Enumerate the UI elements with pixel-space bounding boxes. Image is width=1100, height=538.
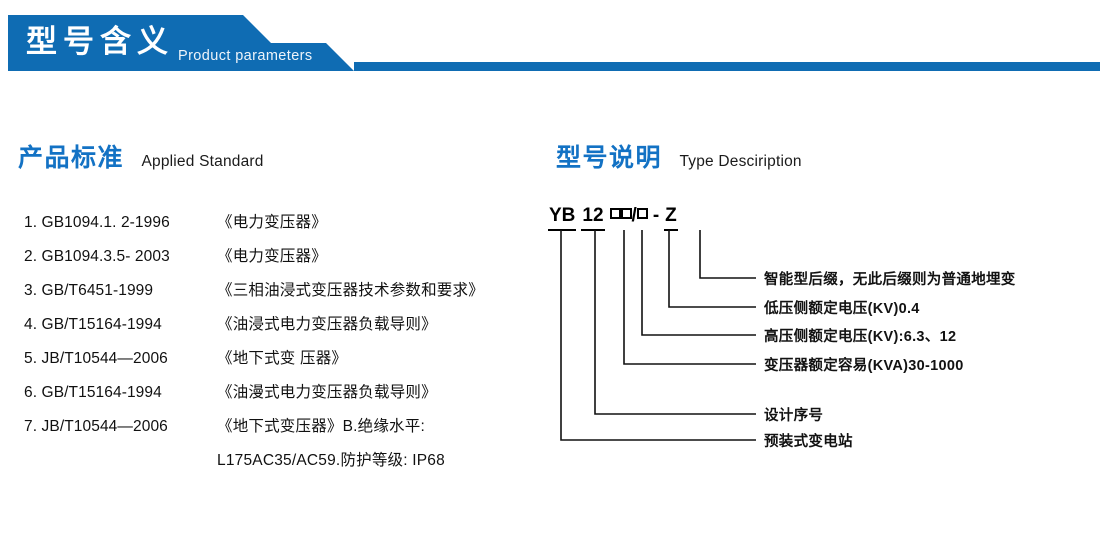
standard-title: 《地下式变压器》B.绝缘水平: xyxy=(217,410,425,444)
section-heading-standard-en: Applied Standard xyxy=(141,153,263,171)
standard-item: 3. GB/T6451-1999《三相油浸式变压器技术参数和要求》 xyxy=(24,274,544,308)
standard-item: 7. JB/T10544—2006《地下式变压器》B.绝缘水平: xyxy=(24,410,544,444)
section-heading-standard-cn: 产品标准 xyxy=(18,138,124,174)
applied-standards-list: 1. GB1094.1. 2-1996《电力变压器》 2. GB1094.3.5… xyxy=(24,206,544,478)
type-code-label: 预装式变电站 xyxy=(764,430,853,451)
standard-code: 3. GB/T6451-1999 xyxy=(24,274,217,308)
standard-title: 《三相油浸式变压器技术参数和要求》 xyxy=(217,274,484,308)
type-code-label: 智能型后缀，无此后缀则为普通地埋变 xyxy=(764,268,1016,289)
standard-item: 1. GB1094.1. 2-1996《电力变压器》 xyxy=(24,206,544,240)
standard-code: 6. GB/T15164-1994 xyxy=(24,376,217,410)
standard-title: 《油漫式电力变压器负载导则》 xyxy=(217,376,437,410)
standard-item: 2. GB1094.3.5- 2003《电力变压器》 xyxy=(24,240,544,274)
type-code-label-list: 智能型后缀，无此后缀则为普通地埋变 低压侧额定电压(KV)0.4 高压侧额定电压… xyxy=(548,204,1100,454)
type-code-label: 低压侧额定电压(KV)0.4 xyxy=(764,297,920,318)
standard-title: 《电力变压器》 xyxy=(217,206,327,240)
standard-code: 7. JB/T10544—2006 xyxy=(24,410,217,444)
section-heading-type-cn: 型号说明 xyxy=(556,138,662,174)
standard-code: 5. JB/T10544—2006 xyxy=(24,342,217,376)
standard-code: 2. GB1094.3.5- 2003 xyxy=(24,240,217,274)
type-code-diagram: YB12/-Z 智能型后缀，无此后缀则为普通地埋变 低压侧额定 xyxy=(548,204,1100,454)
standard-item: 6. GB/T15164-1994《油漫式电力变压器负载导则》 xyxy=(24,376,544,410)
standard-item: 4. GB/T15164-1994《油浸式电力变压器负载导则》 xyxy=(24,308,544,342)
type-code-label: 设计序号 xyxy=(764,404,823,425)
page-banner: 型号含义 Product parameters xyxy=(0,0,1100,92)
type-code-label: 高压侧额定电压(KV):6.3、12 xyxy=(764,325,956,346)
standard-code: 1. GB1094.1. 2-1996 xyxy=(24,206,217,240)
section-heading-standard: 产品标准 Applied Standard xyxy=(18,138,264,174)
standard-continuation: L175AC35/AC59.防护等级: IP68 xyxy=(24,444,544,478)
section-heading-type-en: Type Desciription xyxy=(679,153,801,171)
standard-code: 4. GB/T15164-1994 xyxy=(24,308,217,342)
standard-title: 《地下式变 压器》 xyxy=(217,342,347,376)
standard-title: 《电力变压器》 xyxy=(217,240,327,274)
banner-title-cn: 型号含义 xyxy=(26,22,174,62)
section-heading-type: 型号说明 Type Desciription xyxy=(556,138,802,174)
standard-item: 5. JB/T10544—2006《地下式变 压器》 xyxy=(24,342,544,376)
banner-title-en: Product parameters xyxy=(178,48,313,64)
standard-title: 《油浸式电力变压器负载导则》 xyxy=(217,308,437,342)
type-code-label: 变压器额定容易(KVA)30-1000 xyxy=(764,354,964,375)
